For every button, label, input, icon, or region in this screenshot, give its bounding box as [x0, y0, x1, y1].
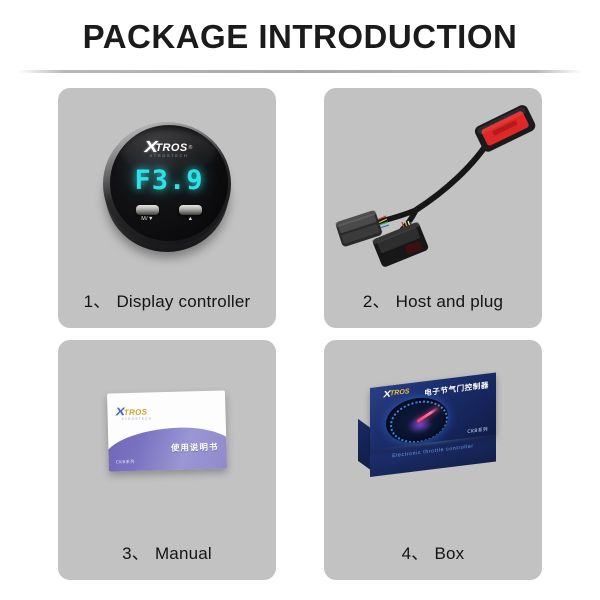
xtros-wordmark: TROS	[124, 408, 148, 417]
manual-title-cn: 使用说明书	[171, 441, 219, 454]
mode-down-button-label: M/▼	[141, 217, 153, 223]
host-module	[473, 103, 537, 154]
item-label: Box	[434, 544, 464, 563]
item-label: Host and plug	[396, 292, 504, 311]
harness-illustration	[324, 88, 542, 274]
package-introduction-page: PACKAGE INTRODUCTION X TROS ®	[0, 0, 600, 600]
package-item-host-and-plug: 2、Host and plug	[324, 88, 542, 328]
host-and-plug-image	[324, 88, 542, 274]
mode-down-button-chip	[136, 205, 159, 215]
controller-rim: X TROS ® XTROSTECH F3.9 M/▼	[103, 122, 231, 246]
wiring-harness	[324, 88, 542, 274]
led-readout: F3.9	[134, 165, 203, 196]
item-number: 2、	[363, 292, 390, 311]
item-caption: 1、Display controller	[58, 287, 276, 312]
item-number: 3、	[122, 544, 149, 563]
up-button-chip	[179, 205, 202, 215]
manual-series-text: CKB系列	[116, 459, 135, 465]
controller-device: X TROS ® XTROSTECH F3.9 M/▼	[101, 114, 233, 254]
display-controller-image: X TROS ® XTROSTECH F3.9 M/▼	[58, 88, 276, 274]
page-title: PACKAGE INTRODUCTION	[0, 18, 600, 56]
xtros-x-mark: X	[382, 389, 391, 399]
up-button-label: ▲	[188, 217, 194, 223]
controller-buttons: M/▼ ▲	[110, 205, 228, 223]
package-item-manual: X TROS XTROSTECH 使用说明书 CKB系列 3、Manual	[58, 340, 276, 580]
item-number: 4、	[402, 544, 429, 563]
page-header: PACKAGE INTRODUCTION	[0, 0, 600, 78]
title-divider	[18, 70, 582, 73]
box-series-text: CKB系列	[467, 427, 488, 436]
item-label: Display controller	[116, 292, 250, 311]
item-caption: 3、Manual	[58, 539, 276, 564]
item-caption: 2、Host and plug	[324, 287, 542, 312]
package-items-grid: X TROS ® XTROSTECH F3.9 M/▼	[0, 78, 600, 600]
item-caption: 4、Box	[324, 539, 542, 564]
controller-face: X TROS ® XTROSTECH F3.9 M/▼	[110, 125, 228, 241]
retail-box: Electronic throttle controller X TROS 电子…	[358, 388, 508, 492]
item-label: Manual	[155, 544, 212, 563]
registered-icon: ®	[189, 146, 193, 151]
xtros-wordmark: TROS	[390, 388, 409, 397]
manual-booklet: X TROS XTROSTECH 使用说明书 CKB系列	[107, 390, 227, 471]
xtros-logo-subtext: XTROSTECH	[149, 153, 188, 158]
main-cable	[416, 136, 492, 210]
xtros-logo-subtext: XTROSTECH	[122, 416, 153, 421]
manual-image: X TROS XTROSTECH 使用说明书 CKB系列	[58, 340, 276, 526]
xtros-wordmark: TROS	[155, 143, 187, 154]
mode-down-button[interactable]: M/▼	[136, 205, 159, 223]
xtros-logo: X TROS	[384, 387, 409, 399]
box-image: Electronic throttle controller X TROS 电子…	[324, 340, 542, 526]
item-number: 1、	[84, 292, 111, 311]
package-item-box: Electronic throttle controller X TROS 电子…	[324, 340, 542, 580]
package-item-display-controller: X TROS ® XTROSTECH F3.9 M/▼	[58, 88, 276, 328]
box-title-cn: 电子节气门控制器	[424, 379, 489, 398]
gauge-graphic	[386, 394, 448, 446]
up-button[interactable]: ▲	[179, 205, 202, 223]
